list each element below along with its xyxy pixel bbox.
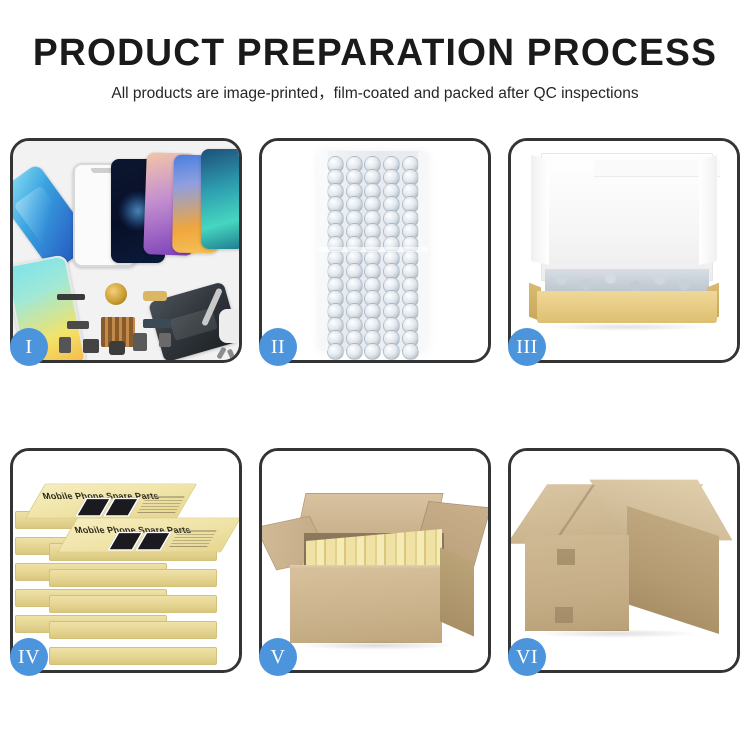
page-title: PRODUCT PREPARATION PROCESS	[8, 30, 743, 76]
step-image-2	[262, 141, 488, 360]
retail-box-top: Mobile Phone Spare Parts	[25, 484, 197, 519]
carton-front-face	[290, 569, 442, 643]
copper-coil-part	[105, 283, 127, 305]
wrap-edge-left	[318, 151, 328, 351]
mailer-box-front	[537, 291, 717, 323]
mailer-box-shadow	[541, 323, 713, 331]
page-subtitle: All products are image-printed，film-coat…	[0, 83, 750, 105]
retail-box	[49, 569, 217, 587]
retail-box	[49, 647, 217, 665]
step-image-4: Mobile Phone Spare Parts Mobile Phone Sp…	[13, 451, 239, 670]
step-badge-1: I	[10, 328, 48, 366]
step-image-3	[511, 141, 737, 360]
bubble	[364, 343, 381, 360]
mailer-box-lid	[541, 153, 713, 281]
flex-connector-part	[143, 319, 171, 328]
process-steps-grid: I	[10, 138, 740, 673]
wrap-seam	[318, 247, 428, 252]
flex-cable-part	[143, 291, 167, 301]
mailer-box-lid-right-fold	[699, 155, 717, 265]
step-panel-4: Mobile Phone Spare Parts Mobile Phone Sp…	[10, 448, 242, 673]
speaker-bar-part	[57, 294, 85, 300]
step-image-5	[262, 451, 488, 670]
small-part-1	[67, 321, 89, 329]
product-preparation-infographic: PRODUCT PREPARATION PROCESS All products…	[0, 0, 750, 750]
bubble	[383, 343, 400, 360]
step-image-1	[13, 141, 239, 360]
small-part-4	[109, 341, 125, 355]
header: PRODUCT PREPARATION PROCESS All products…	[0, 30, 750, 105]
step-image-6	[511, 451, 737, 670]
carton-tape-mark-2	[555, 607, 573, 623]
carton-side-face	[440, 547, 474, 636]
bubble	[327, 343, 344, 360]
step-badge-6: VI	[508, 638, 546, 676]
step-panel-5: V	[259, 448, 491, 673]
step-badge-2: II	[259, 328, 297, 366]
step-badge-5: V	[259, 638, 297, 676]
screw-part-2	[227, 349, 236, 360]
retail-box-top: Mobile Phone Spare Parts	[57, 518, 239, 553]
carton-shadow	[296, 641, 456, 650]
bubble-wrapped-item	[318, 151, 428, 351]
retail-box	[49, 595, 217, 613]
wrap-edge-right	[418, 151, 428, 351]
small-part-2	[59, 337, 71, 353]
step-panel-3: III	[508, 138, 740, 363]
sealed-carton-shadow	[531, 629, 701, 638]
step-panel-2: II	[259, 138, 491, 363]
step-badge-3: III	[508, 328, 546, 366]
retail-box-stack: Mobile Phone Spare Parts Mobile Phone Sp…	[13, 451, 239, 670]
retail-box	[49, 621, 217, 639]
carton-tape-mark-1	[557, 549, 575, 565]
screw-part-1	[216, 347, 226, 360]
bubble	[346, 343, 363, 360]
sealed-carton-front-face	[525, 535, 629, 631]
small-part-6	[159, 333, 171, 347]
small-part-3	[83, 339, 99, 353]
step-panel-1: I	[10, 138, 242, 363]
hand-holding-tool	[219, 309, 239, 343]
small-part-5	[133, 333, 147, 351]
step-panel-6: VI	[508, 448, 740, 673]
phone-teal-display	[201, 149, 239, 249]
bubble	[402, 343, 419, 360]
mailer-box-lid-left-fold	[531, 155, 549, 265]
step-badge-4: IV	[10, 638, 48, 676]
